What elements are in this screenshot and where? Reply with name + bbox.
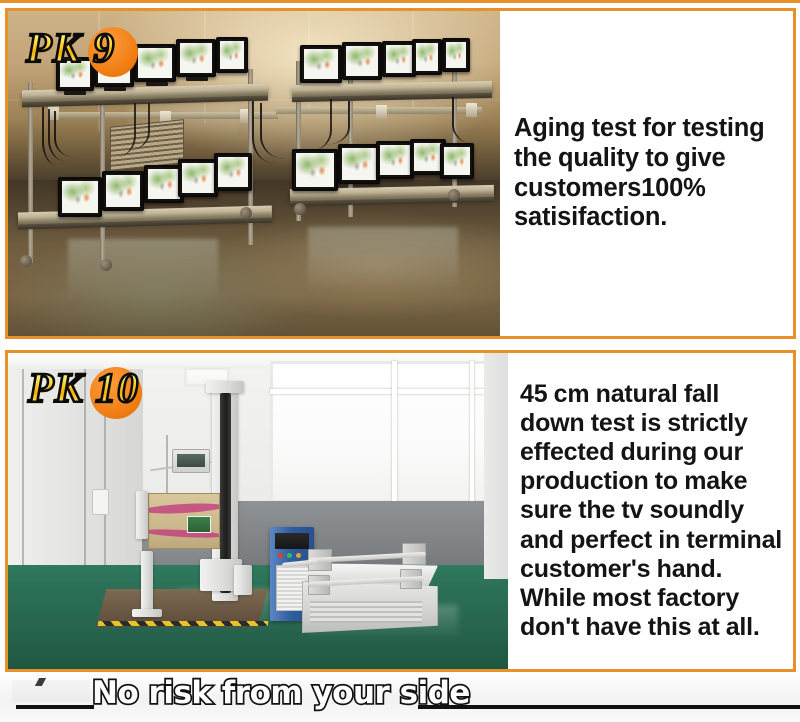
panel-drop-test: PK 10 45 cm natural fall down test is st…	[5, 350, 796, 672]
bottom-banner: No risk from your side	[0, 676, 800, 722]
caption-text: 45 cm natural fall down test is strictly…	[520, 380, 787, 642]
banner-smudge	[12, 680, 90, 702]
caption-aging-test: Aging test for testing the quality to gi…	[500, 11, 793, 336]
panel-aging-test: PK 9 Aging test for testing the quality …	[5, 8, 796, 339]
banner-rule-left	[16, 705, 94, 709]
drop-test-lab-photo: PK 10	[8, 353, 508, 669]
banner-rule-right	[418, 705, 800, 709]
aging-test-room-photo: PK 9	[8, 11, 500, 336]
caption-drop-test: 45 cm natural fall down test is strictly…	[508, 353, 793, 669]
top-accent-rule	[0, 0, 800, 3]
caption-text: Aging test for testing the quality to gi…	[514, 114, 787, 233]
banner-headline: No risk from your side	[92, 676, 470, 711]
